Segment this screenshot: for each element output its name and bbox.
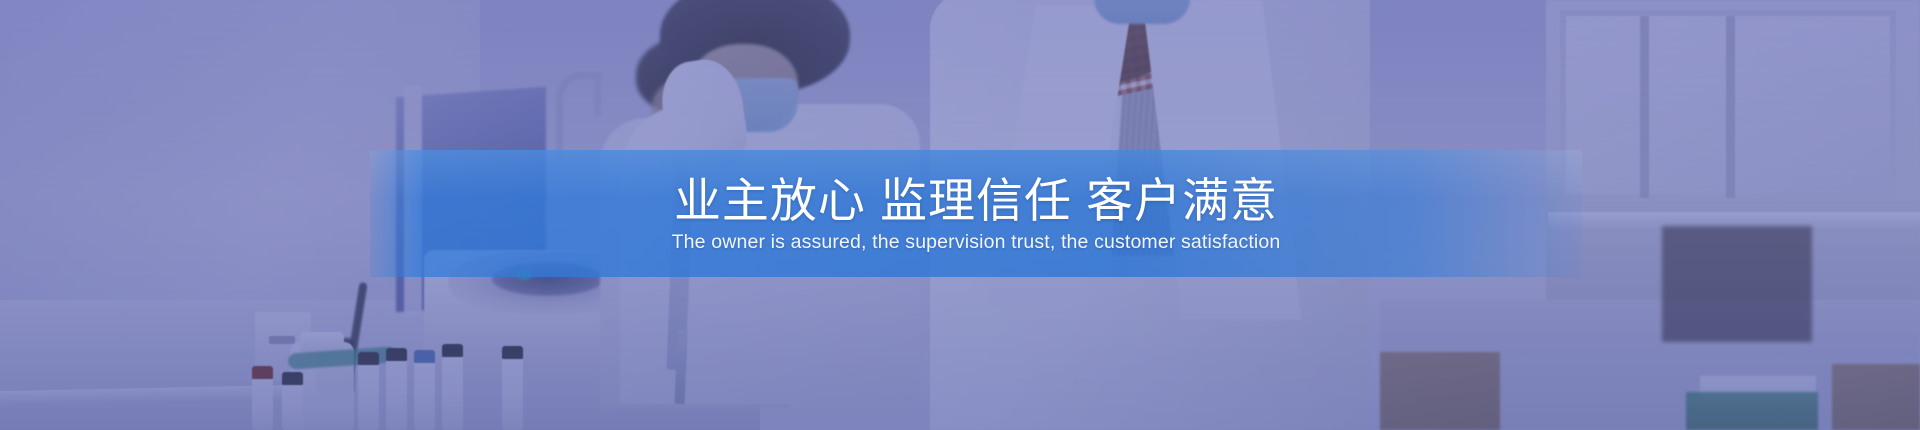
subheadline-english: The owner is assured, the supervision tr…: [672, 230, 1281, 254]
headline-chinese: 业主放心 监理信任 客户满意: [674, 173, 1278, 228]
hero-banner: 业主放心 监理信任 客户满意 The owner is assured, the…: [0, 0, 1920, 430]
headline-text-group: 业主放心 监理信任 客户满意 The owner is assured, the…: [370, 150, 1582, 277]
